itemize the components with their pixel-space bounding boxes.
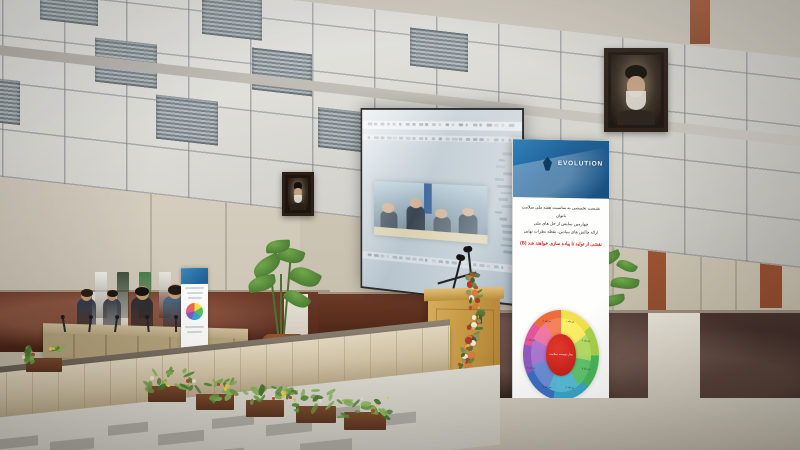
ceiling-vent [156,95,218,146]
banner-title-line-1: نشست تخصصی به مناسبت هفته ملی سلامت بانو… [513,203,609,221]
screen-ui-glyph [393,122,396,125]
video-participant-head [435,209,447,219]
screen-ui-glyph [387,122,391,125]
wheel-segment-label: مرحله ۲ [582,340,591,343]
floor-tile [50,437,94,450]
planter-leaf [300,394,309,403]
screen-sidebar-line [498,159,505,162]
drape-leaf [461,347,465,352]
screen-ui-glyph [399,122,401,125]
screen-ui-glyph [445,261,449,264]
planter-foliage [238,383,294,405]
screen-ui-glyph [473,123,478,126]
video-participant-head [382,203,394,213]
banner-header: EVOLUTION [513,139,609,199]
portrait-beard [626,91,646,109]
plant-leaf [288,262,323,292]
planter-flower [167,384,169,386]
planter-flower [272,397,275,400]
wall-accent-stripe [690,0,710,44]
portrait-robe [617,110,655,125]
planter-flower [361,398,364,401]
banner-small-textline [187,331,202,333]
screen-sidebar-line [495,178,505,181]
screen-ui-glyph [368,136,370,139]
wall-portrait-small [282,172,314,216]
screen-ui-glyph [368,253,371,256]
screen-ui-glyph [380,122,384,125]
screen-sidebar-line [502,231,512,234]
screen-ui-glyph [452,138,458,141]
planter-foliage [188,377,244,399]
planter-flower [192,379,196,383]
screen-ui-glyph [387,137,392,140]
floor-tile [108,422,148,436]
projection-screen [361,108,524,307]
ceiling-vent [410,28,468,73]
screen-ui-glyph [452,261,457,264]
speaker-hair [107,290,118,297]
screen-ui-glyph [412,123,415,126]
floor-tile [0,435,38,449]
screen-ui-glyph [480,123,482,126]
banner-small-header [181,268,208,284]
screen-ui-glyph [445,123,449,126]
screen-ui-glyph [412,257,416,260]
planter-leaf [311,389,321,394]
planter-flower [217,383,220,386]
table-microphone [175,318,177,332]
plant-leaf [616,257,638,276]
screen-ui-glyph [406,257,411,260]
wheel-segment-label: مرحله ۳ [582,367,591,370]
screen-ui-glyph [473,138,478,141]
screen-ui-glyph [501,266,503,269]
wheel-segment-label: مرحله ۵ [543,386,552,389]
screen-ui-glyph [438,260,443,263]
screen-ui-glyph [459,138,462,141]
planter-flower [164,381,166,383]
banner-small-textline [185,287,204,289]
screen-ui-glyph [406,137,411,140]
video-flag [424,183,432,214]
speaker-hair [135,287,149,296]
screen-ui-glyph [487,123,492,126]
planter-flower [150,376,154,380]
planter-flower [294,399,297,402]
screen-ui-glyph [494,265,498,268]
portrait-beard [294,195,302,203]
screen-ui-glyph [368,122,372,125]
drape-flower [472,315,477,320]
screen-ui-glyph [406,123,411,126]
portrait-image [611,55,661,125]
screen-ui-glyph [425,137,427,140]
screen-sidebar-line [501,192,512,195]
screen-ui-glyph [374,137,378,140]
planter-leaf [204,382,212,387]
wheel-core: مدل توسعه سلامت [546,334,576,376]
wheel-segment-label: مرحله ۷ [526,339,535,342]
screen-ui-glyph [393,256,398,259]
screen-ui-glyph [374,122,377,125]
drape-flower [467,325,471,329]
planter-flower [52,347,55,350]
drape-leaf [476,326,483,329]
planter-flower [371,409,375,413]
screen-ui-glyph [438,123,441,126]
conference-hall-photo: EVOLUTION نشست تخصصی به مناسبت هفته ملی … [0,0,800,450]
screen-ui-glyph [501,123,504,126]
banner-small-wheel-icon [186,303,203,320]
drape-flower [475,298,480,303]
banner-logo-text: EVOLUTION [558,160,603,168]
screen-ui-glyph [419,258,424,261]
screen-sidebar-line [499,198,508,201]
planter-flower [31,353,34,356]
floor-tile [300,438,352,450]
screen-ui-glyph [466,138,471,141]
drape-flower [466,290,471,295]
banner-wheel-diagram: مدل توسعه سلامت مرحله ۱مرحله ۲مرحله ۳مرح… [523,309,599,400]
screen-ui-glyph [425,123,428,126]
screen-ui-glyph [508,123,514,126]
planter-flower [387,397,389,399]
portrait-image [288,178,308,210]
banner-small-textline [188,297,202,299]
planter-leaf [195,384,202,394]
screen-ui-glyph [419,123,424,126]
screen-ui-glyph [452,123,455,126]
planter-flower [224,387,227,390]
floor-tile [158,430,204,446]
planter-leaf [290,392,295,395]
video-conference-tile [374,181,488,244]
planter-flower [289,396,292,399]
planter-foliage [18,341,72,363]
secondary-rollup-banner [181,268,208,356]
screen-sidebar-line [499,218,507,221]
planter-flower [319,399,323,403]
planter-flower [282,394,285,397]
screen-ui-glyph [432,123,436,126]
planter-leaf [189,385,194,391]
screen-ui-glyph [374,254,379,257]
planter-leaf [324,401,335,411]
screen-ui-glyph [480,264,485,268]
plant-stem [280,274,282,336]
screen-ui-glyph [399,256,402,259]
ceiling-vent [0,74,20,125]
planter-leaf [242,388,249,395]
banner-title-line-3: ارائه چالش های بنیادین، نقطه نظرات نهایی [513,227,609,237]
plant-leaf [610,275,640,292]
drape-leaf [467,345,473,351]
screen-ui-glyph [393,137,397,140]
planter-leaf [229,381,237,385]
planter-leaf [249,398,255,405]
banner-small-textline [187,292,203,294]
screen-ui-glyph [419,137,423,140]
wheel-segment-label: مرحله ۸ [543,319,552,322]
banner-header-swoosh [513,145,609,199]
screen-ui-glyph [432,259,436,262]
screen-ui-glyph [438,138,441,141]
screen-ui-glyph [380,254,384,257]
marble-panel-light [648,313,700,403]
projection-screen-surface [362,110,522,305]
drape-flower [469,306,473,310]
ceiling-vent [202,0,262,41]
banner-headline-red: نقشی از تولید تا پیاده سازی خواهند شد (B… [513,240,609,248]
speaker-hair [81,289,93,297]
screen-ui-glyph [487,264,490,267]
screen-sidebar-line [496,165,506,168]
screen-sidebar-line [495,211,502,214]
screen-ui-glyph [399,137,403,140]
planter-foliage [336,395,396,417]
screen-ui-glyph [380,137,384,140]
wheel-segment-label: مرحله ۱ [565,320,574,323]
screen-ui-glyph [466,123,468,126]
wall-portrait-large [604,48,668,132]
planter-leaf [354,409,360,414]
wheel-core-label: مدل توسعه سلامت [546,334,576,376]
wheel-segment-labels: مرحله ۱مرحله ۲مرحله ۳مرحله ۴مرحله ۵مرحله… [523,309,599,310]
banner-small-textline [185,326,204,328]
wheel-segment-label: مرحله ۴ [565,386,574,389]
video-participant-head [410,198,422,209]
screen-ui-glyph [432,138,435,141]
wheel-segment-label: مرحله ۶ [526,366,535,369]
plant-stem [271,282,280,336]
screen-ui-glyph [494,123,499,126]
planter-leaf [336,398,343,405]
screen-sidebar-line [496,185,512,188]
drape-flower [477,319,481,323]
screen-ui-glyph [425,259,427,262]
screen-ui-glyph [494,139,499,142]
screen-ui-glyph [466,262,468,265]
screen-ui-glyph [473,263,477,266]
drape-flower [462,359,466,363]
portrait-robe [290,203,305,210]
drape-flower [474,286,477,289]
screen-ui-glyph [459,123,463,126]
